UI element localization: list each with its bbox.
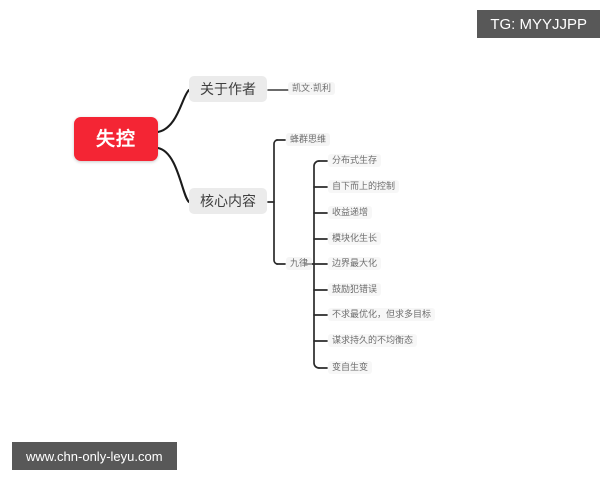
leaf-node-law-7[interactable]: 不求最优化，但求多目标	[328, 308, 435, 321]
leaf-label-law-7: 不求最优化，但求多目标	[332, 309, 431, 319]
sub-node-nine-laws[interactable]: 九律	[286, 257, 312, 270]
leaf-node-law-4[interactable]: 模块化生长	[328, 232, 381, 245]
leaf-node-law-9[interactable]: 变自生变	[328, 361, 372, 374]
mindmap-root-node[interactable]: 失控	[74, 117, 158, 161]
branch-node-about-author[interactable]: 关于作者	[189, 76, 267, 102]
leaf-node-law-2[interactable]: 自下而上的控制	[328, 180, 399, 193]
watermark-website-text: www.chn-only-leyu.com	[26, 449, 163, 464]
leaf-label-law-2: 自下而上的控制	[332, 181, 395, 191]
sub-node-label-kevin-kelly: 凯文·凯利	[292, 83, 331, 93]
edge-root-to-author	[158, 90, 189, 132]
edge-core-bracket	[274, 140, 277, 264]
leaf-label-law-8: 谋求持久的不均衡态	[332, 335, 413, 345]
watermark-telegram-text: TG: MYYJJPP	[490, 16, 587, 33]
sub-node-kevin-kelly[interactable]: 凯文·凯利	[288, 82, 335, 95]
leaf-node-law-5[interactable]: 边界最大化	[328, 257, 381, 270]
sub-node-label-hive-mind: 蜂群思维	[290, 134, 326, 144]
leaf-label-law-3: 收益递增	[332, 207, 368, 217]
root-label: 失控	[96, 130, 136, 149]
branch-label-about-author: 关于作者	[200, 82, 256, 96]
leaf-node-law-3[interactable]: 收益递增	[328, 206, 372, 219]
leaf-label-law-4: 模块化生长	[332, 233, 377, 243]
leaf-label-law-1: 分布式生存	[332, 155, 377, 165]
mindmap-canvas: 失控 关于作者 凯文·凯利 核心内容 蜂群思维 九律 分布式生存 自下而上的控制…	[0, 0, 600, 480]
sub-node-hive-mind[interactable]: 蜂群思维	[286, 133, 330, 146]
watermark-website: www.chn-only-leyu.com	[12, 442, 177, 470]
edge-laws-bracket	[314, 161, 319, 368]
leaf-label-law-5: 边界最大化	[332, 258, 377, 268]
mindmap-edges	[0, 0, 600, 480]
branch-label-core-content: 核心内容	[200, 194, 256, 208]
leaf-node-law-8[interactable]: 谋求持久的不均衡态	[328, 334, 417, 347]
branch-node-core-content[interactable]: 核心内容	[189, 188, 267, 214]
leaf-label-law-9: 变自生变	[332, 362, 368, 372]
sub-node-label-nine-laws: 九律	[290, 258, 308, 268]
leaf-node-law-1[interactable]: 分布式生存	[328, 154, 381, 167]
edge-root-to-core	[158, 148, 189, 202]
leaf-label-law-6: 鼓励犯错误	[332, 284, 377, 294]
watermark-telegram: TG: MYYJJPP	[477, 10, 600, 38]
leaf-node-law-6[interactable]: 鼓励犯错误	[328, 283, 381, 296]
